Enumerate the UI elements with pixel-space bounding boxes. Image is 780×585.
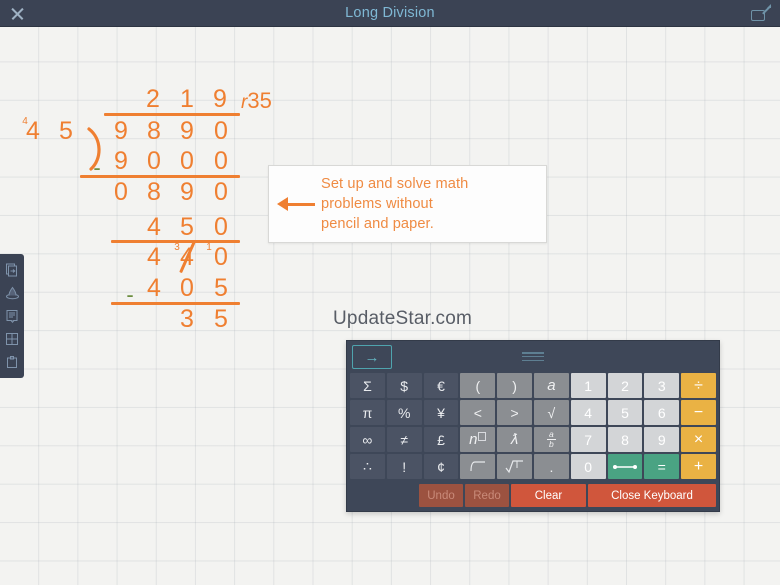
redo-button[interactable]: Redo [465,484,509,507]
step1-digit: 0 [208,149,234,174]
grid-icon[interactable] [0,327,24,350]
key-decimal-point[interactable]: . [534,454,569,479]
key-exponent[interactable]: n [460,427,495,452]
step1-digit: 9 [108,149,134,174]
keyboard-rows: Σ$€()a123÷π%¥<>√456−∞≠£n ƛab789×∴!¢.0=+ [347,373,719,479]
key-sigma[interactable]: Σ [350,373,385,398]
key-2[interactable]: 2 [608,373,643,398]
key-minus[interactable]: − [681,400,716,425]
key-less-than[interactable]: < [460,400,495,425]
keyboard-actions: Undo Redo Clear Close Keyboard [347,481,719,511]
key-3[interactable]: 3 [644,373,679,398]
page-title: Long Division [0,0,780,27]
quotient-digit: 9 [207,87,233,112]
key-cent[interactable]: ¢ [424,454,459,479]
divisor-digit: 5 [53,119,79,144]
titlebar: Long Division [0,0,780,27]
clear-button[interactable]: Clear [511,484,586,507]
key-multiply[interactable]: × [681,427,716,452]
app-window: Long Division 2 1 9 r35 4 4 5 [0,0,780,585]
arrow-left-icon [275,192,321,216]
dividend-digit: 9 [108,119,134,144]
remainder-value: 35 [247,88,271,113]
key-therefore[interactable]: ∴ [350,454,385,479]
callout-box: Set up and solve math problems without p… [268,165,547,243]
step1-result-digit: 8 [141,180,167,205]
key-factorial[interactable]: ! [387,454,422,479]
watermark: UpdateStar.com [333,308,472,330]
key-arrow-both[interactable] [608,454,643,479]
key-percent[interactable]: % [387,400,422,425]
callout-line-2: problems without [321,194,468,214]
key-1[interactable]: 1 [571,373,606,398]
step1-result-digit: 0 [108,180,134,205]
key-8[interactable]: 8 [608,427,643,452]
keyboard-row: ∞≠£n ƛab789× [350,427,716,452]
math-keyboard[interactable]: → Σ$€()a123÷π%¥<>√456−∞≠£n ƛab789×∴!¢.0=… [346,340,720,512]
keyboard-tab-icon[interactable]: → [352,345,392,369]
key-5[interactable]: 5 [608,400,643,425]
keyboard-row: ∴!¢.0=+ [350,454,716,479]
key-not-equal[interactable]: ≠ [387,427,422,452]
key-divide[interactable]: ÷ [681,373,716,398]
key-paren-open[interactable]: ( [460,373,495,398]
final-digit: 3 [174,307,200,332]
clipboard-icon[interactable] [0,350,24,373]
close-keyboard-button[interactable]: Close Keyboard [588,484,716,507]
step3-digit: 4 [141,245,167,270]
key-dollar[interactable]: $ [387,373,422,398]
callout-line-3: pencil and paper. [321,214,468,234]
remainder-label: r35 [241,88,287,115]
callout-text: Set up and solve math problems without p… [321,174,468,234]
undo-button[interactable]: Undo [419,484,463,507]
keyboard-header: → [347,341,719,373]
step4-digit: 5 [208,276,234,301]
key-yen[interactable]: ¥ [424,400,459,425]
step1-digit: 0 [141,149,167,174]
key-slashed-n[interactable]: ƛ [497,427,532,452]
keyboard-row: Σ$€()a123÷ [350,373,716,398]
division-vinculum [104,113,240,116]
key-0[interactable]: 0 [571,454,606,479]
step2-digit: 4 [141,215,167,240]
key-pound[interactable]: £ [424,427,459,452]
key-variable-a[interactable]: a [534,373,569,398]
step1-digit: 0 [174,149,200,174]
key-long-division[interactable] [460,454,495,479]
dividend-digit: 0 [208,119,234,144]
notes-icon[interactable] [0,304,24,327]
divisor-digit: 4 [20,119,46,144]
left-toolbar [0,254,24,378]
ink-icon[interactable] [0,281,24,304]
keyboard-row: π%¥<>√456− [350,400,716,425]
key-4[interactable]: 4 [571,400,606,425]
long-division-work: 2 1 9 r35 4 4 5 9 8 9 0 - 9 0 [0,27,300,317]
key-7[interactable]: 7 [571,427,606,452]
quotient-digit: 1 [174,87,200,112]
export-icon[interactable] [0,258,24,281]
step4-digit: 4 [141,276,167,301]
step1-result-digit: 0 [208,180,234,205]
key-9[interactable]: 9 [644,427,679,452]
drag-handle[interactable] [522,352,544,361]
final-digit: 5 [208,307,234,332]
key-plus[interactable]: + [681,454,716,479]
step1-result-digit: 9 [174,180,200,205]
key-infinity[interactable]: ∞ [350,427,385,452]
key-6[interactable]: 6 [644,400,679,425]
key-greater-than[interactable]: > [497,400,532,425]
callout-line-1: Set up and solve math [321,174,468,194]
key-nth-root[interactable] [497,454,532,479]
expand-icon[interactable] [751,5,770,23]
dividend-digit: 8 [141,119,167,144]
key-paren-close[interactable]: ) [497,373,532,398]
key-pi[interactable]: π [350,400,385,425]
dividend-digit: 9 [174,119,200,144]
key-fraction[interactable]: ab [534,427,569,452]
quotient-digit: 2 [140,87,166,112]
key-sqrt[interactable]: √ [534,400,569,425]
key-euro[interactable]: € [424,373,459,398]
step4-digit: 0 [174,276,200,301]
key-equals[interactable]: = [644,454,679,479]
step3-digit: 0 [208,245,234,270]
grid-canvas[interactable]: 2 1 9 r35 4 4 5 9 8 9 0 - 9 0 [0,27,780,585]
